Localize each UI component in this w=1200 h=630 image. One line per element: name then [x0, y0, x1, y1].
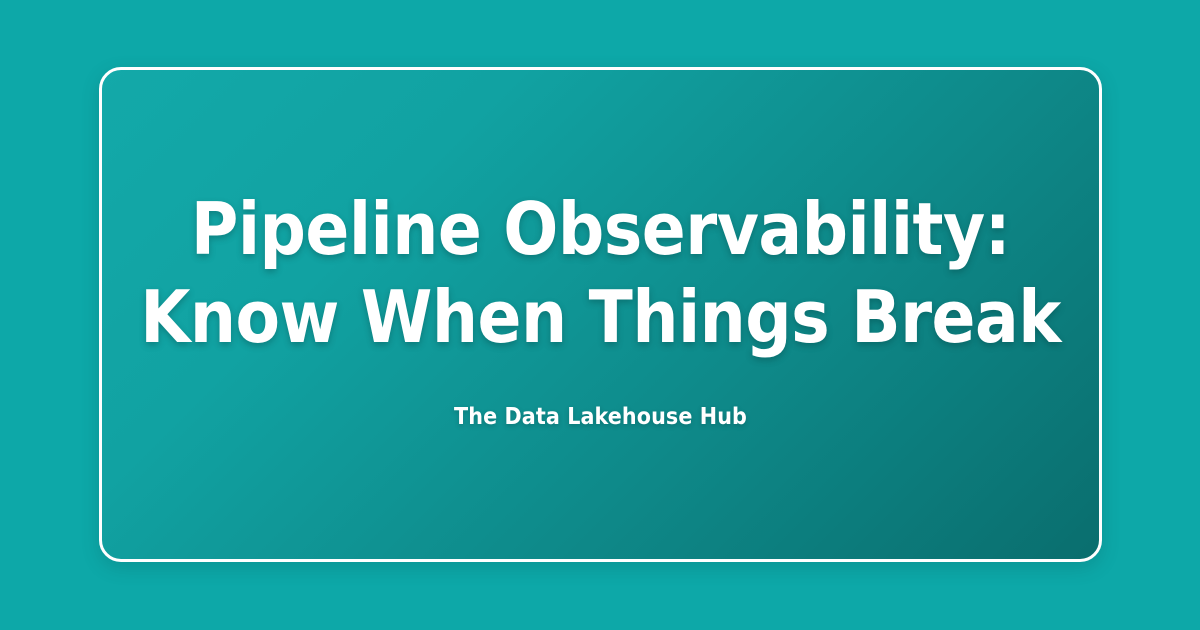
- hero-text-block: Pipeline Observability: Know When Things…: [102, 185, 1099, 445]
- hero-card: Pipeline Observability: Know When Things…: [99, 67, 1102, 562]
- og-image-canvas: Pipeline Observability: Know When Things…: [0, 0, 1200, 630]
- site-name-subtitle: The Data Lakehouse Hub: [102, 403, 1099, 431]
- page-title: Pipeline Observability: Know When Things…: [102, 185, 1099, 361]
- page-title-line-1: Pipeline Observability:: [102, 185, 1099, 273]
- page-title-line-2: Know When Things Break: [102, 273, 1099, 361]
